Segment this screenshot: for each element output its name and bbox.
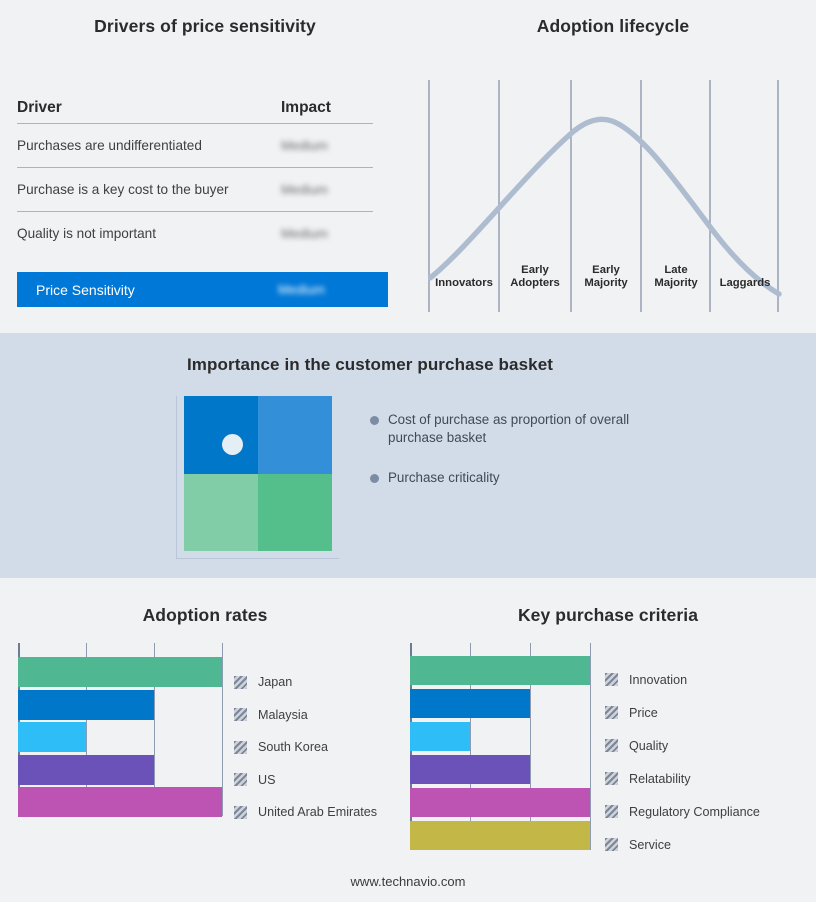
hatched-square-icon [234, 741, 247, 754]
drivers-panel-title: Drivers of price sensitivity [0, 16, 410, 37]
bullet-dot-icon [370, 474, 379, 483]
key-purchase-criteria-chart [410, 643, 590, 850]
table-row: Purchases are undifferentiated Medium [17, 124, 373, 167]
legend-item: US [234, 764, 377, 797]
quadrant-position-marker [222, 434, 243, 455]
adoption-rates-chart [18, 643, 222, 816]
legend-item-label: Service [629, 838, 671, 852]
legend-item-label: Malaysia [258, 708, 308, 722]
legend-item: Quality [605, 729, 760, 762]
column-header-driver: Driver [17, 99, 281, 117]
hatched-square-icon [605, 805, 618, 818]
adoption-rates-panel: Adoption rates JapanMalaysiaSouth KoreaU… [0, 578, 410, 902]
legend-item-label: Japan [258, 675, 292, 689]
bar [410, 689, 530, 718]
quadrant-chart [176, 396, 341, 561]
key-purchase-criteria-panel: Key purchase criteria InnovationPriceQua… [400, 578, 816, 902]
legend-item: Japan [234, 666, 377, 699]
legend-item: Regulatory Compliance [605, 795, 760, 828]
legend-item: Purchase criticality [370, 469, 700, 487]
bar [18, 657, 222, 687]
quadrant-cells [184, 396, 332, 551]
stage-line: Early [500, 264, 570, 277]
gridline [590, 643, 591, 850]
purchase-basket-panel: Importance in the customer purchase bask… [0, 333, 816, 578]
stage-line: Innovators [424, 277, 504, 290]
lifecycle-chart: Innovators Early Adopters Early Majority… [428, 80, 800, 312]
legend-item-label: Regulatory Compliance [629, 805, 760, 819]
table-row: Purchase is a key cost to the buyer Medi… [17, 168, 373, 211]
legend-item-label: Relatability [629, 772, 691, 786]
table-header-row: Driver Impact [17, 92, 373, 123]
footer-url: www.technavio.com [0, 874, 816, 889]
bar [410, 821, 590, 850]
hatched-square-icon [234, 708, 247, 721]
hatched-square-icon [605, 838, 618, 851]
stage-line: Early [571, 264, 641, 277]
bar [18, 755, 154, 785]
lifecycle-stage-label-laggards: Laggards [711, 277, 779, 290]
legend-item-label: Purchase criticality [388, 469, 500, 487]
legend-item: Cost of purchase as proportion of overal… [370, 411, 700, 447]
basket-legend: Cost of purchase as proportion of overal… [370, 411, 700, 509]
driver-label: Purchase is a key cost to the buyer [17, 182, 281, 197]
stage-line: Adopters [500, 277, 570, 290]
hatched-square-icon [605, 673, 618, 686]
legend-item-label: Cost of purchase as proportion of overal… [388, 411, 638, 447]
stage-line: Laggards [711, 277, 779, 290]
table-row: Quality is not important Medium [17, 212, 373, 255]
quadrant-cell-bottom-right [258, 474, 332, 552]
adoption-rates-title: Adoption rates [0, 605, 410, 626]
bullet-dot-icon [370, 416, 379, 425]
legend-item-label: Innovation [629, 673, 687, 687]
bar [18, 787, 222, 817]
lifecycle-panel-title: Adoption lifecycle [410, 16, 816, 37]
lifecycle-stage-label-early-majority: Early Majority [571, 264, 641, 290]
summary-impact-text: Medium [278, 282, 325, 297]
quadrant-cell-top-left [184, 396, 258, 474]
impact-value: Medium [281, 182, 373, 197]
gridline [222, 643, 223, 816]
bar [18, 690, 154, 720]
bar [410, 722, 470, 751]
basket-panel-title: Importance in the customer purchase bask… [0, 355, 740, 375]
legend-item: Malaysia [234, 699, 377, 732]
bar [410, 788, 590, 817]
legend-item-label: Price [629, 706, 658, 720]
summary-label: Price Sensitivity [17, 282, 278, 298]
bar [410, 656, 590, 685]
driver-label: Quality is not important [17, 226, 281, 241]
legend-item: South Korea [234, 731, 377, 764]
key-purchase-criteria-title: Key purchase criteria [400, 605, 816, 626]
impact-value-text: Medium [281, 138, 328, 153]
stage-line: Late [641, 264, 711, 277]
quadrant-cell-bottom-left [184, 474, 258, 552]
stage-line: Majority [641, 277, 711, 290]
legend-item-label: US [258, 773, 276, 787]
legend-item-label: South Korea [258, 740, 328, 754]
hatched-square-icon [605, 739, 618, 752]
hatched-square-icon [234, 676, 247, 689]
bar [18, 722, 86, 752]
lifecycle-stage-label-late-majority: Late Majority [641, 264, 711, 290]
adoption-lifecycle-panel: Adoption lifecycle Innovators Early Adop… [410, 0, 816, 333]
legend-item: Innovation [605, 663, 760, 696]
lifecycle-stage-label-innovators: Innovators [424, 277, 504, 290]
drivers-of-price-sensitivity-panel: Drivers of price sensitivity Driver Impa… [0, 0, 410, 333]
driver-label: Purchases are undifferentiated [17, 138, 281, 153]
impact-value: Medium [281, 226, 373, 241]
drivers-table: Driver Impact Purchases are undifferenti… [17, 92, 373, 255]
lifecycle-stage-label-early-adopters: Early Adopters [500, 264, 570, 290]
legend-item: Relatability [605, 762, 760, 795]
hatched-square-icon [234, 773, 247, 786]
hatched-square-icon [605, 706, 618, 719]
legend-item-label: Quality [629, 739, 668, 753]
infographic-page: Drivers of price sensitivity Driver Impa… [0, 0, 816, 902]
legend-item: United Arab Emirates [234, 796, 377, 829]
impact-value-text: Medium [281, 182, 328, 197]
summary-impact-value: Medium [278, 282, 388, 297]
legend-item: Service [605, 828, 760, 861]
hatched-square-icon [234, 806, 247, 819]
quadrant-cell-top-right [258, 396, 332, 474]
adoption-rates-legend: JapanMalaysiaSouth KoreaUSUnited Arab Em… [234, 666, 377, 829]
column-header-impact: Impact [281, 99, 373, 117]
bar [410, 755, 530, 784]
impact-value-text: Medium [281, 226, 328, 241]
price-sensitivity-summary-row: Price Sensitivity Medium [17, 272, 388, 307]
legend-item: Price [605, 696, 760, 729]
legend-item-label: United Arab Emirates [258, 805, 377, 819]
hatched-square-icon [605, 772, 618, 785]
key-purchase-criteria-legend: InnovationPriceQualityRelatabilityRegula… [605, 663, 760, 861]
stage-line: Majority [571, 277, 641, 290]
impact-value: Medium [281, 138, 373, 153]
